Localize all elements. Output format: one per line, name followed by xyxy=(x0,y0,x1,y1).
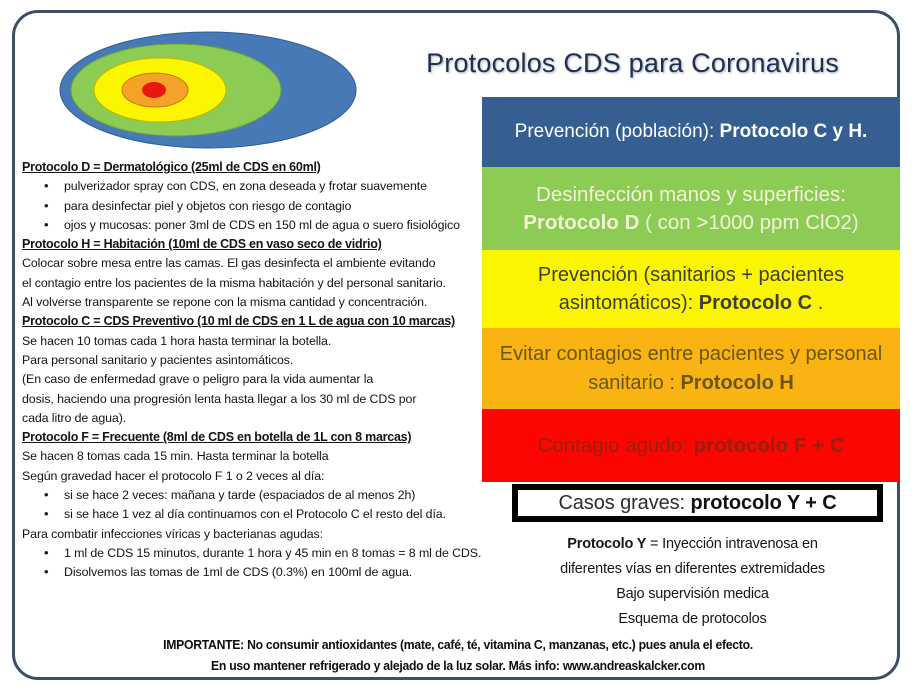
page-title: Protocolos CDS para Coronavirus xyxy=(360,44,905,86)
protocol-c-line: Se hacen 10 tomas cada 1 hora hasta term… xyxy=(22,332,472,351)
protocol-c-heading: Protocolo C = CDS Preventivo (10 ml de C… xyxy=(22,312,472,331)
casos-graves-text: Casos graves: xyxy=(558,492,690,514)
list-item: si se hace 1 vez al día continuamos con … xyxy=(22,505,472,524)
protocol-f-line: Se hacen 8 tomas cada 15 min. Hasta term… xyxy=(22,447,472,466)
protocol-y-note: Protocolo Y = Inyección intravenosa en d… xyxy=(490,532,895,632)
protocol-h-line: Colocar sobre mesa entre las camas. El g… xyxy=(22,254,472,273)
protocols-text-column: Protocolo D = Dermatológico (25ml de CDS… xyxy=(22,158,472,583)
block-prevencion-poblacion: Prevención (población): Protocolo C y H. xyxy=(482,97,900,167)
protocol-h-line: Al volverse transparente se repone con l… xyxy=(22,293,472,312)
footer-line-2: En uso mantener refrigerado y alejado de… xyxy=(56,655,861,676)
list-item: si se hace 2 veces: mañana y tarde (espa… xyxy=(22,486,472,505)
protocol-y-label: Protocolo Y xyxy=(567,536,646,552)
block-text-bold: protocolo F + C xyxy=(694,434,845,457)
block-text-bold: Protocolo H xyxy=(680,372,793,394)
block-text: Desinfección manos y superficies: xyxy=(536,183,846,206)
protocol-f-bullet-list: si se hace 2 veces: mañana y tarde (espa… xyxy=(22,486,472,525)
protocol-c-line: Para personal sanitario y pacientes asin… xyxy=(22,351,472,370)
footer-note: IMPORTANTE: No consumir antioxidantes (m… xyxy=(56,634,861,676)
protocol-c-line: dosis, haciendo una progresión lenta has… xyxy=(22,390,472,409)
concentric-ellipses-logo xyxy=(58,28,358,153)
protocol-f-line: Para combatir infecciones víricas y bact… xyxy=(22,525,472,544)
protocol-y-line-2: diferentes vías en diferentes extremidad… xyxy=(490,557,895,582)
casos-graves-box: Casos graves: protocolo Y + C xyxy=(512,484,883,522)
block-text-tail: . xyxy=(812,292,823,314)
list-item: pulverizador spray con CDS, en zona dese… xyxy=(22,177,472,196)
block-text-bold: Protocolo C y H. xyxy=(720,121,868,142)
protocol-f-line: Según gravedad hacer el protocolo F 1 o … xyxy=(22,467,472,486)
list-item: 1 ml de CDS 15 minutos, durante 1 hora y… xyxy=(22,544,472,563)
block-text-tail: ( con >1000 ppm ClO2) xyxy=(639,211,858,234)
list-item: para desinfectar piel y objetos con ries… xyxy=(22,197,472,216)
block-prevencion-sanitarios-asintomaticos: Prevención (sanitarios + pacientes asint… xyxy=(482,250,900,328)
protocol-f-bullet-list-2: 1 ml de CDS 15 minutos, durante 1 hora y… xyxy=(22,544,472,583)
protocol-d-bullet-list: pulverizador spray con CDS, en zona dese… xyxy=(22,177,472,235)
protocol-y-line-1: Protocolo Y = Inyección intravenosa en xyxy=(490,532,895,557)
protocol-y-line-4: Esquema de protocolos xyxy=(490,607,895,632)
protocol-y-line-3: Bajo supervisión medica xyxy=(490,582,895,607)
protocol-h-heading: Protocolo H = Habitación (10ml de CDS en… xyxy=(22,235,472,254)
concentric-ellipses-svg xyxy=(58,28,358,153)
protocol-y-line-1-rest: = Inyección intravenosa en xyxy=(646,536,818,552)
block-evitar-contagios: Evitar contagios entre pacientes y perso… xyxy=(482,328,900,409)
block-contagio-agudo: Contagio agudo: protocolo F + C xyxy=(482,409,900,482)
protocol-c-line: (En caso de enfermedad grave o peligro p… xyxy=(22,370,472,389)
list-item: ojos y mucosas: poner 3ml de CDS en 150 … xyxy=(22,216,472,235)
block-text-bold: Protocolo C xyxy=(699,292,812,314)
severity-blocks: Prevención (población): Protocolo C y H.… xyxy=(482,97,900,482)
footer-line-1: IMPORTANTE: No consumir antioxidantes (m… xyxy=(56,634,861,655)
protocol-d-heading: Protocolo D = Dermatológico (25ml de CDS… xyxy=(22,158,472,177)
protocol-h-line: el contagio entre los pacientes de la mi… xyxy=(22,274,472,293)
list-item: Disolvemos las tomas de 1ml de CDS (0.3%… xyxy=(22,563,472,582)
block-text: Prevención (población): xyxy=(515,121,720,142)
protocol-f-heading: Protocolo F = Frecuente (8ml de CDS en b… xyxy=(22,428,472,447)
block-text-bold: Protocolo D xyxy=(523,211,639,234)
block-text: Contagio agudo: xyxy=(537,434,693,457)
ring-center-red-ellipse xyxy=(142,82,166,98)
block-desinfeccion-manos-superficies: Desinfección manos y superficies: Protoc… xyxy=(482,167,900,250)
protocol-c-line: cada litro de agua). xyxy=(22,409,472,428)
casos-graves-text-bold: protocolo Y + C xyxy=(690,492,836,514)
